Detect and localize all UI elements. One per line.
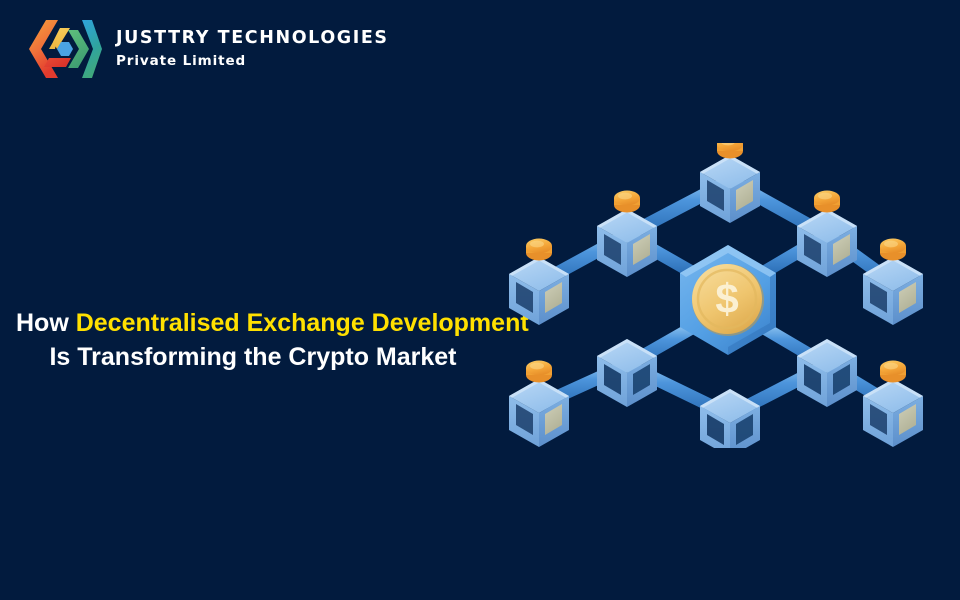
center-hexagon-node: $ bbox=[680, 245, 776, 355]
headline: How Decentralised Exchange Development I… bbox=[16, 306, 536, 374]
node-mid-right bbox=[863, 239, 923, 326]
headline-accent: Decentralised Exchange Development bbox=[76, 309, 529, 337]
company-name: JUSTTRY TECHNOLOGIES bbox=[116, 28, 389, 49]
node-mid-left bbox=[509, 239, 569, 326]
node-upper-right bbox=[797, 191, 857, 278]
node-bottom-right bbox=[863, 361, 923, 448]
headline-line-1: How Decentralised Exchange Development bbox=[16, 306, 536, 340]
node-top-center bbox=[700, 143, 760, 223]
headline-line-2: Is Transforming the Crypto Market bbox=[16, 340, 536, 374]
company-suffix: Private Limited bbox=[116, 53, 389, 70]
headline-prefix: How bbox=[16, 309, 76, 337]
blockchain-network-svg: $ bbox=[497, 143, 927, 448]
node-upper-left bbox=[597, 191, 657, 278]
brand-logo-text: JUSTTRY TECHNOLOGIES Private Limited bbox=[116, 28, 389, 70]
promo-banner: JUSTTRY TECHNOLOGIES Private Limited How… bbox=[0, 0, 960, 600]
brand-logo[interactable]: JUSTTRY TECHNOLOGIES Private Limited bbox=[24, 18, 389, 80]
blockchain-network-3d-illustration: $ bbox=[497, 143, 927, 448]
dollar-symbol: $ bbox=[715, 275, 738, 322]
node-bottom-left bbox=[509, 361, 569, 448]
justtry-hexagon-logo-icon bbox=[24, 18, 102, 80]
